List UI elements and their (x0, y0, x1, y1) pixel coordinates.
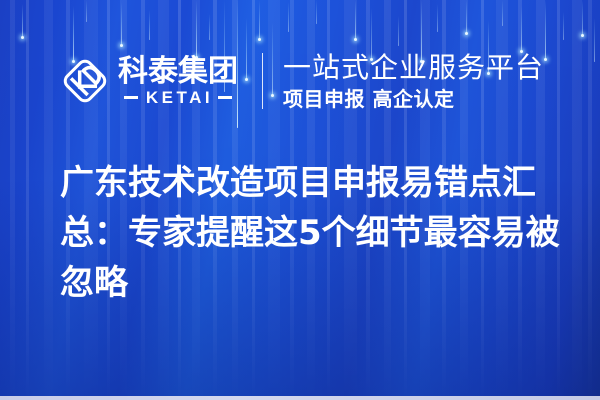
light-trail (563, 12, 564, 40)
light-trail (121, 2, 122, 46)
light-trail (288, 2, 289, 32)
light-trail (149, 10, 150, 40)
banner-title: 广东技术改造项目申报易错点汇总：专家提醒这5个细节最容易被忽略 (60, 158, 576, 308)
light-trail (582, 0, 583, 36)
tagline-sub: 项目申报 高企认定 (283, 87, 544, 111)
light-trail (355, 0, 356, 40)
header-divider (262, 53, 263, 109)
light-trail (502, 0, 503, 26)
ketai-diamond-kd-monogram-icon (60, 54, 110, 108)
light-trail (209, 14, 210, 40)
logo-wordmark: 科泰集团 KETAI (118, 56, 238, 107)
light-trail (86, 0, 87, 22)
light-spark (354, 38, 357, 41)
banner-header: 科泰集团 KETAI 一站式企业服务平台 项目申报 高企认定 (0, 46, 600, 116)
logo-company-name-en-row: KETAI (118, 89, 238, 107)
light-trail (316, 0, 317, 24)
logo-company-name-en: KETAI (138, 89, 218, 107)
tagline-main: 一站式企业服务平台 (283, 52, 544, 84)
logo-dash-left-icon (124, 96, 138, 99)
light-spark (21, 36, 24, 39)
light-spark (465, 32, 468, 35)
light-trail (466, 0, 467, 34)
light-trail (398, 16, 399, 46)
light-trail (259, 0, 260, 40)
bottom-light-strip (0, 396, 600, 400)
tagline-block: 一站式企业服务平台 项目申报 高企认定 (283, 52, 544, 111)
light-spark (581, 34, 584, 37)
ketai-logo: 科泰集团 KETAI (60, 54, 238, 108)
light-spark (258, 38, 261, 41)
light-trail (22, 4, 23, 38)
promo-banner: 科泰集团 KETAI 一站式企业服务平台 项目申报 高企认定 广东技术改造项目申… (0, 0, 600, 400)
light-trail (437, 4, 438, 32)
logo-company-name-cn: 科泰集团 (118, 56, 238, 88)
logo-dash-right-icon (218, 96, 232, 99)
